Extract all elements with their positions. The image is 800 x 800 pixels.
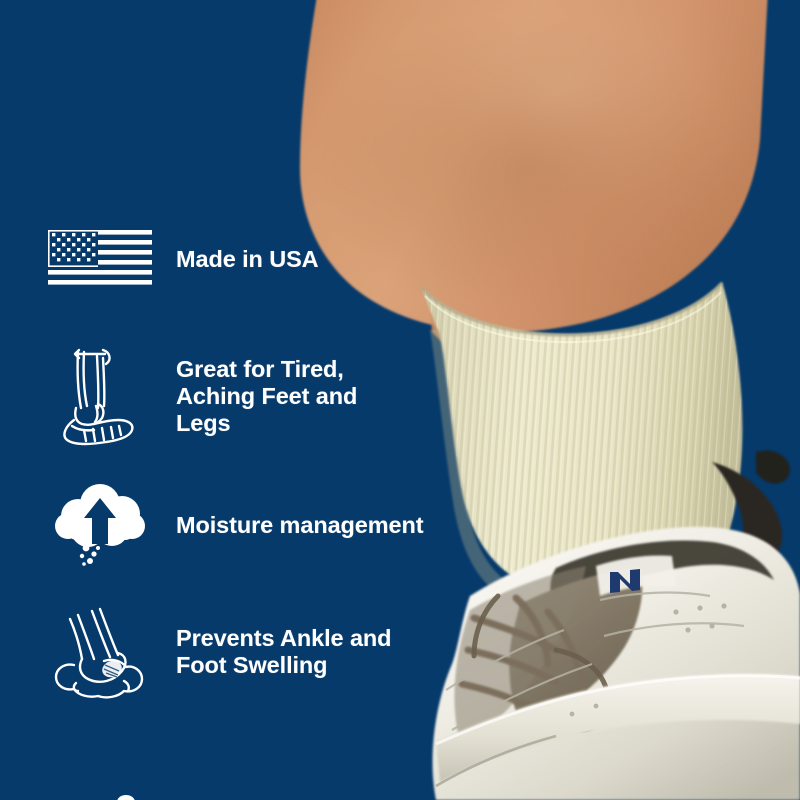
skeletal-foot-xray-icon [48,348,152,444]
feature-label: Great for Tired, Aching Feet and Legs [176,356,357,437]
feature-moisture-management: Moisture management [48,482,424,568]
feature-label: Made in USA [176,246,319,273]
product-feature-banner: Made in USA [0,0,800,800]
usa-flag-icon [48,224,152,294]
feature-made-in-usa: Made in USA [48,224,319,294]
feature-icon-partial-bottom [48,790,168,800]
partial-icon [48,790,168,800]
feature-label: Prevents Ankle and Foot Swelling [176,625,391,679]
cloud-moisture-icon [48,482,152,568]
feature-prevents-swelling: Prevents Ankle and Foot Swelling [48,606,391,698]
feature-tired-aching-feet: Great for Tired, Aching Feet and Legs [48,348,357,444]
foot-on-cloud-icon [48,606,152,698]
feature-list: Made in USA [0,0,520,800]
feature-label: Moisture management [176,512,424,539]
